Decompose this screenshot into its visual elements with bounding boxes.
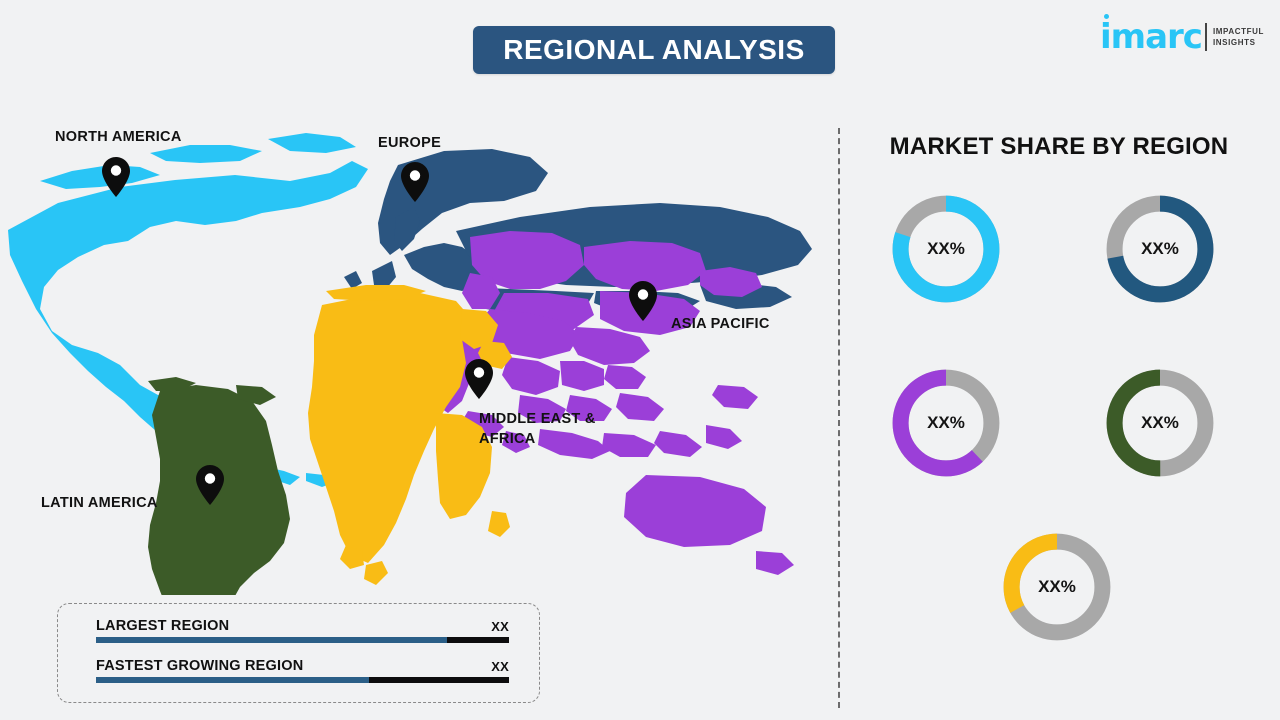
donut-value: XX% xyxy=(1100,189,1220,309)
map-label-asia-pacific: ASIA PACIFIC xyxy=(671,314,770,334)
imarc-logo: imarc IMPACTFUL INSIGHTS xyxy=(1100,16,1264,58)
map-region-asia-pacific xyxy=(434,231,794,575)
market-share-title: MARKET SHARE BY REGION xyxy=(838,133,1280,161)
map-pin-icon-latin-america[interactable] xyxy=(195,464,225,506)
legend-progress-fill xyxy=(96,637,447,643)
donut-chart-asia-pacific[interactable]: XX% xyxy=(886,363,1006,483)
donut-chart-europe[interactable]: XX% xyxy=(1100,189,1220,309)
regional-analysis-slide: REGIONAL ANALYSIS imarc IMPACTFUL INSIGH… xyxy=(0,0,1280,720)
map-label-middle-east-africa: MIDDLE EAST & AFRICA xyxy=(479,409,629,449)
legend-label: FASTEST GROWING REGION xyxy=(96,658,303,674)
logo-tagline-line2: INSIGHTS xyxy=(1213,37,1264,48)
legend-row-fastest-growing-region: FASTEST GROWING REGION XX xyxy=(96,658,509,683)
region-summary-box: LARGEST REGION XX FASTEST GROWING REGION… xyxy=(57,603,540,703)
legend-progress-fill xyxy=(96,677,369,683)
logo-dot-icon xyxy=(1104,14,1109,19)
donut-chart-north-america[interactable]: XX% xyxy=(886,189,1006,309)
map-label-north-america: NORTH AMERICA xyxy=(55,127,182,147)
map-pin-icon-north-america[interactable] xyxy=(101,156,131,198)
legend-label: LARGEST REGION xyxy=(96,618,229,634)
logo-wordmark-text: imarc xyxy=(1100,17,1202,57)
map-pin-icon-middle-east-africa[interactable] xyxy=(464,358,494,400)
map-label-latin-america: LATIN AMERICA xyxy=(41,493,158,513)
donut-value: XX% xyxy=(886,363,1006,483)
map-label-europe: EUROPE xyxy=(378,133,441,153)
donut-chart-middle-east-africa[interactable]: XX% xyxy=(997,527,1117,647)
legend-progress-bar xyxy=(96,677,509,683)
donut-chart-latin-america[interactable]: XX% xyxy=(1100,363,1220,483)
legend-value: XX xyxy=(491,619,509,634)
logo-wordmark: imarc xyxy=(1100,20,1202,54)
page-title: REGIONAL ANALYSIS xyxy=(503,34,805,66)
page-title-banner: REGIONAL ANALYSIS xyxy=(473,26,835,74)
donut-value: XX% xyxy=(1100,363,1220,483)
donut-value: XX% xyxy=(886,189,1006,309)
logo-divider xyxy=(1205,23,1207,51)
logo-tagline-line1: IMPACTFUL xyxy=(1213,26,1264,37)
legend-value: XX xyxy=(491,659,509,674)
logo-tagline: IMPACTFUL INSIGHTS xyxy=(1213,26,1264,48)
panel-divider xyxy=(838,128,840,708)
map-pin-icon-asia-pacific[interactable] xyxy=(628,280,658,322)
map-pin-icon-europe[interactable] xyxy=(400,161,430,203)
legend-progress-bar xyxy=(96,637,509,643)
donut-value: XX% xyxy=(997,527,1117,647)
legend-row-largest-region: LARGEST REGION XX xyxy=(96,618,509,643)
